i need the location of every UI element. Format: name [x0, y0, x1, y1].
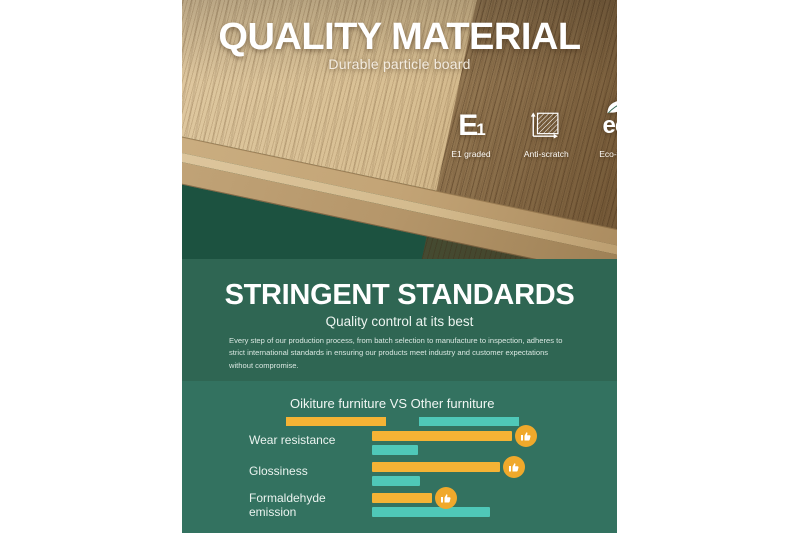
chart-title: Oikiture furniture VS Other furniture	[290, 396, 494, 411]
standards-section: STRINGENT STANDARDS Quality control at i…	[182, 259, 617, 381]
feature-label: E1 graded	[434, 149, 508, 160]
bar-other	[372, 476, 420, 486]
standards-title: STRINGENT STANDARDS	[182, 279, 617, 312]
poster-canvas: QUALITY MATERIAL Durable particle board …	[0, 0, 800, 533]
chart-row-formaldehyde-emission: Formaldehyde emission	[182, 493, 617, 524]
e1-digit: 1	[476, 120, 483, 139]
feature-icon-row: E1 E1 graded	[434, 106, 617, 182]
chart-row-label: Formaldehyde emission	[249, 492, 369, 520]
standards-subtitle: Quality control at its best	[182, 314, 617, 329]
standards-body-text: Every step of our production process, fr…	[229, 335, 571, 372]
bar-other	[372, 507, 490, 517]
thumbs-up-icon	[503, 456, 525, 478]
feature-eco-friendly: eco Eco-friendly	[585, 106, 617, 160]
anti-scratch-icon	[509, 106, 583, 146]
legend-swatch-oikiture	[286, 417, 386, 426]
feature-e1-graded: E1 E1 graded	[434, 106, 508, 160]
chart-row-label: Glossiness	[249, 465, 369, 479]
comparison-chart-section: Oikiture furniture VS Other furniture We…	[182, 381, 617, 533]
thumbs-up-icon	[435, 487, 457, 509]
chart-row-bars	[372, 431, 512, 455]
e1-grade-icon: E1	[434, 106, 508, 146]
thumbs-up-icon	[515, 425, 537, 447]
e1-letter: E	[458, 109, 476, 142]
eco-word: eco	[602, 112, 617, 139]
chart-row-wear-resistance: Wear resistance	[182, 431, 617, 462]
bar-other	[372, 445, 418, 455]
bar-oikiture	[372, 462, 500, 472]
legend-swatch-other	[419, 417, 519, 426]
hero-subtitle: Durable particle board	[182, 56, 617, 72]
chart-legend	[286, 417, 521, 426]
hero-section: QUALITY MATERIAL Durable particle board …	[182, 0, 617, 259]
hero-title: QUALITY MATERIAL	[182, 16, 617, 59]
chart-row-bars	[372, 462, 500, 486]
chart-row-label: Wear resistance	[249, 434, 369, 448]
content-panel: QUALITY MATERIAL Durable particle board …	[182, 0, 617, 533]
bar-oikiture	[372, 431, 512, 441]
chart-rows: Wear resistance Glossiness	[182, 431, 617, 524]
eco-leaf-icon: eco	[585, 106, 617, 146]
feature-label: Anti-scratch	[509, 149, 583, 160]
feature-label: Eco-friendly	[585, 149, 617, 160]
feature-anti-scratch: Anti-scratch	[509, 106, 583, 160]
chart-row-bars	[372, 493, 490, 517]
chart-row-glossiness: Glossiness	[182, 462, 617, 493]
bar-oikiture	[372, 493, 432, 503]
